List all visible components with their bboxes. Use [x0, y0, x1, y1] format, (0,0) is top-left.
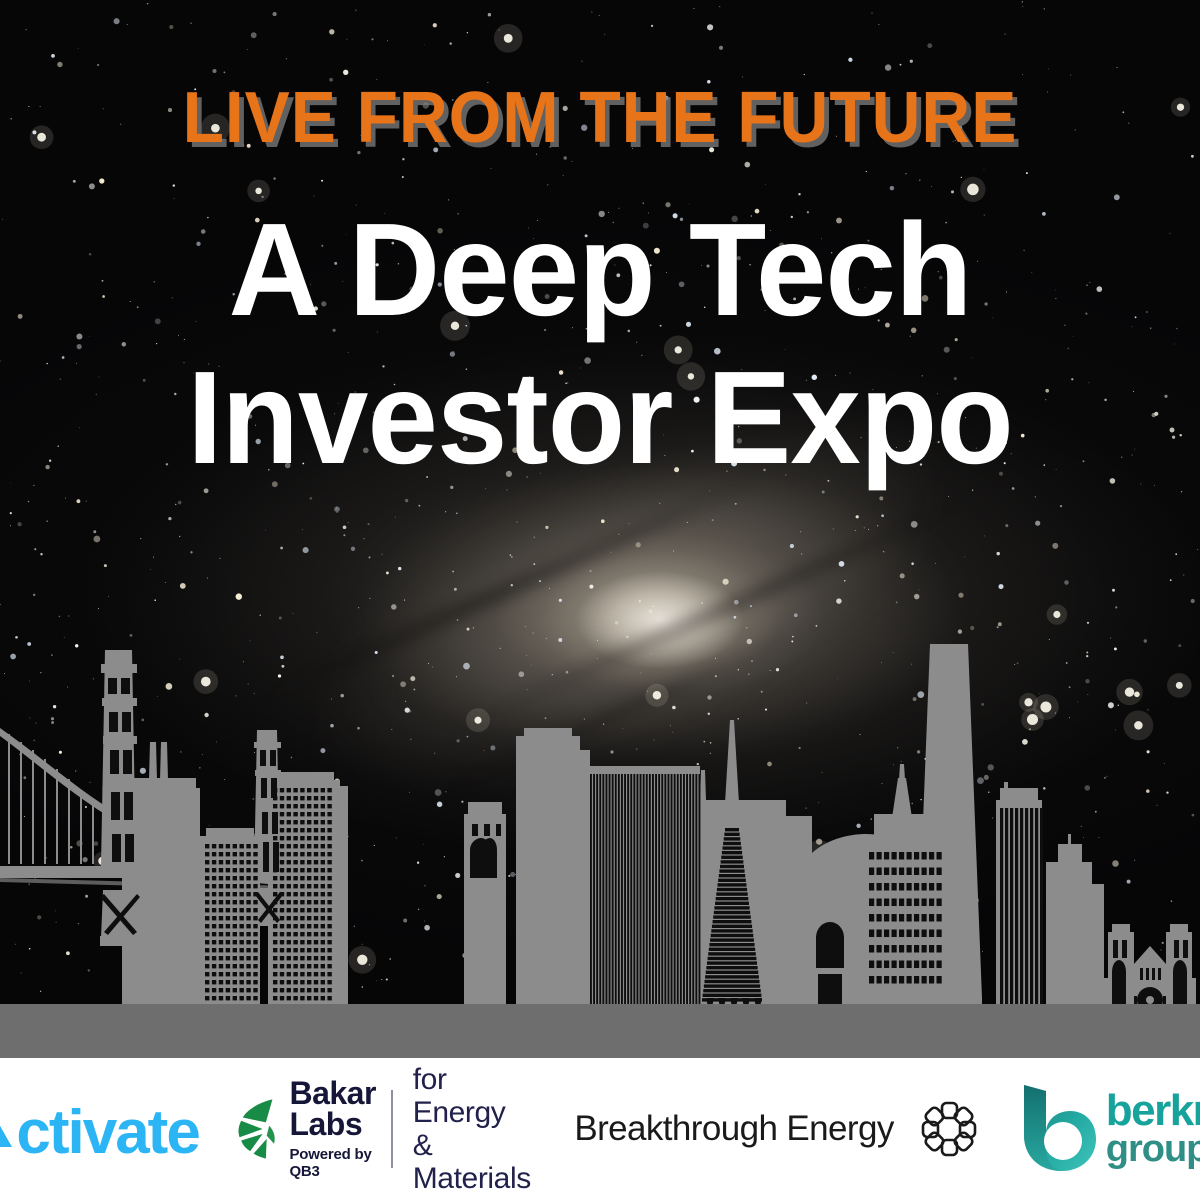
bakar-tagline: for Energy & Materials [413, 1063, 533, 1195]
activate-logo[interactable]: ctivate [0, 1095, 199, 1164]
ground-strip [0, 1004, 1200, 1058]
bakar-labs-text: Bakar Labs Powered by QB3 [289, 1078, 385, 1180]
bakar-labs-fan-icon [233, 1091, 281, 1167]
bakar-line-2: Labs [289, 1109, 385, 1140]
bakar-divider [391, 1090, 393, 1168]
berkner-wordmark: berkner group [1106, 1091, 1200, 1167]
berkner-b-mark-icon [1016, 1081, 1100, 1177]
bakar-tagline-2: & Materials [413, 1129, 533, 1195]
title-line-1: A Deep Tech [24, 196, 1176, 344]
breakthrough-energy-logo[interactable]: Breakthrough Energy [574, 1098, 979, 1160]
bakar-line-1: Bakar [289, 1078, 385, 1109]
activate-label: ctivate [16, 1102, 198, 1164]
bakar-powered-by: Powered by QB3 [289, 1146, 385, 1180]
bakar-labs-logo[interactable]: Bakar Labs Powered by QB3 for Energy & M… [233, 1063, 533, 1195]
berkner-line-2: group [1106, 1131, 1200, 1167]
san-francisco-skyline [0, 638, 1200, 1058]
breakthrough-energy-rosette-icon [918, 1098, 980, 1160]
activate-triangle-a-icon [0, 1095, 15, 1153]
berkner-group-logo[interactable]: berkner group [1016, 1081, 1200, 1177]
poster-canvas: LIVE FROM THE FUTURE A Deep Tech Investo… [0, 0, 1200, 1200]
bakar-tagline-1: for Energy [413, 1063, 533, 1129]
title-line-2: Investor Expo [24, 344, 1176, 492]
activate-wordmark: ctivate [0, 1095, 199, 1164]
kicker-headline: LIVE FROM THE FUTURE [36, 82, 1164, 154]
breakthrough-energy-label: Breakthrough Energy [574, 1109, 893, 1149]
sponsor-logo-bar: ctivate Bakar Labs Powered by QB3 [0, 1058, 1200, 1200]
berkner-line-1: berkner [1106, 1091, 1200, 1131]
page-title: A Deep Tech Investor Expo [24, 196, 1176, 492]
